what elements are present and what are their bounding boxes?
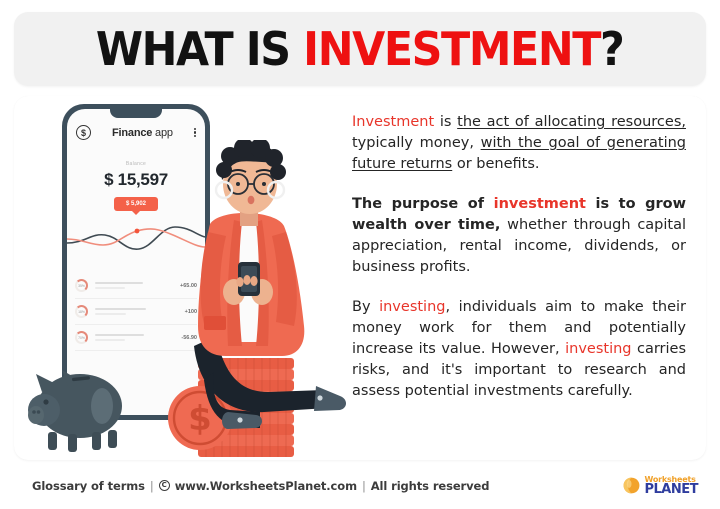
text-run-normal: or benefits.: [452, 156, 539, 172]
app-title-light: app: [152, 127, 173, 139]
ring-label: 18%: [77, 307, 86, 316]
ring-label: 70%: [77, 333, 86, 342]
text-run-bold: The purpose of: [352, 196, 494, 212]
app-title: Finance app: [97, 127, 188, 139]
title-part-what-is: WHAT IS: [96, 22, 303, 76]
brand-wordmark: Worksheets PLANET: [644, 476, 698, 496]
footer-rights: All rights reserved: [371, 479, 490, 493]
page-title: WHAT IS INVESTMENT?: [96, 26, 624, 72]
footer-website[interactable]: www.WorksheetsPlanet.com: [175, 479, 357, 493]
footer-credits: Glossary of terms | C www.WorksheetsPlan…: [32, 479, 489, 493]
transaction-placeholder-bars: [95, 282, 173, 289]
text-run-red: investing: [379, 299, 445, 315]
dollar-circle-icon: $: [76, 125, 91, 140]
paragraph-purpose: The purpose of investment is to grow wea…: [352, 194, 686, 278]
text-run-normal: is: [434, 114, 457, 130]
brand-bottom-word: PLANET: [644, 483, 698, 496]
progress-ring-icon: 70%: [75, 331, 88, 344]
text-run-normal: By: [352, 299, 379, 315]
footer-separator-2: |: [362, 479, 366, 493]
phone-notch: [110, 109, 162, 118]
seated-investor-illustration: [164, 140, 354, 440]
worksheets-planet-logo[interactable]: Worksheets PLANET: [622, 476, 698, 496]
progress-ring-icon: 35%: [75, 279, 88, 292]
title-card: WHAT IS INVESTMENT?: [14, 12, 706, 86]
illustration-panel: $ Finance app Balance $ 15,597 $ 5,902: [14, 96, 336, 460]
app-title-bold: Finance: [112, 127, 152, 139]
infographic-poster: WHAT IS INVESTMENT? $ Finance app Balanc…: [0, 0, 720, 509]
ring-label: 35%: [77, 281, 86, 290]
progress-ring-icon: 18%: [75, 305, 88, 318]
copyright-icon: C: [159, 480, 170, 491]
text-run-normal: typically money,: [352, 135, 481, 151]
title-part-question: ?: [600, 22, 623, 76]
footer-glossary: Glossary of terms: [32, 479, 145, 493]
content-card: $ Finance app Balance $ 15,597 $ 5,902: [14, 96, 706, 460]
title-part-investment: INVESTMENT: [304, 22, 601, 76]
piggy-bank-icon: [22, 358, 130, 454]
globe-logo-icon: [622, 476, 641, 495]
kebab-menu-icon[interactable]: [194, 128, 196, 138]
text-run-red: Investment: [352, 114, 434, 130]
text-run-red-bold: investment: [494, 196, 586, 212]
footer-separator-1: |: [150, 479, 154, 493]
text-panel: Investment is the act of allocating reso…: [336, 96, 706, 460]
chart-marker: [135, 229, 140, 234]
transaction-placeholder-bars: [95, 334, 174, 341]
text-run-red: investing: [565, 341, 631, 357]
balance-change-badge: $ 5,902: [114, 197, 158, 211]
footer: Glossary of terms | C www.WorksheetsPlan…: [0, 462, 720, 509]
paragraph-definition: Investment is the act of allocating reso…: [352, 112, 686, 175]
paragraph-risks: By investing, individuals aim to make th…: [352, 297, 686, 402]
text-run-underline: the act of allocating resources,: [457, 114, 686, 130]
